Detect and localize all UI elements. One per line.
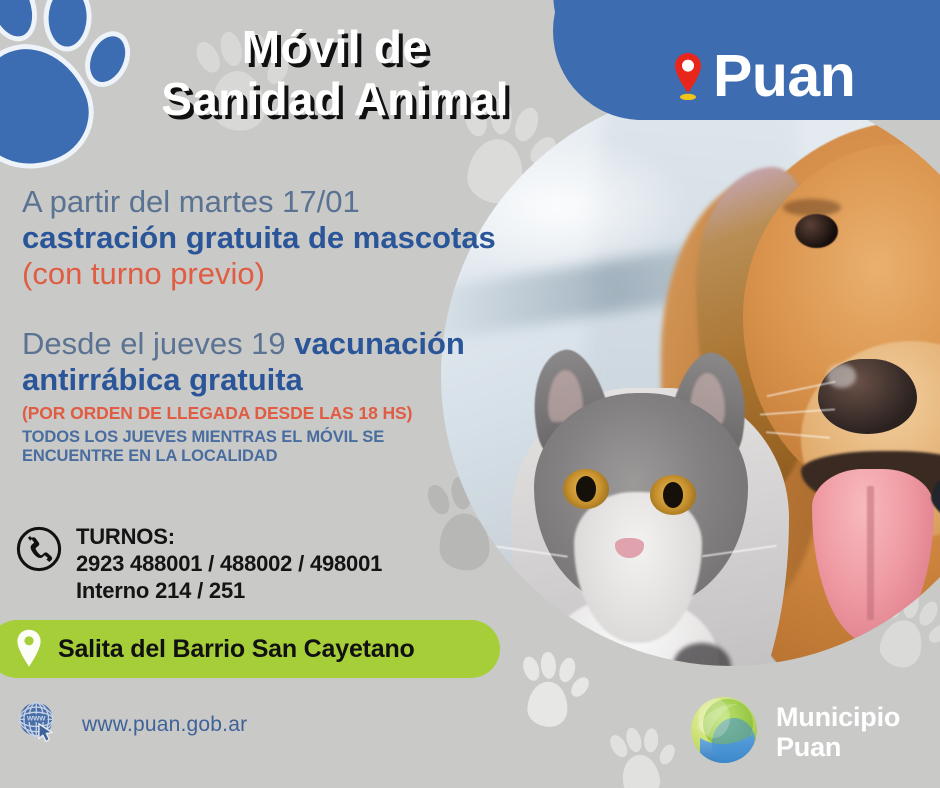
vaccination-order-note: (POR ORDEN DE LLEGADA DESDE LAS 18 HS) [22, 403, 522, 423]
address-bar: Salita del Barrio San Cayetano [0, 620, 500, 678]
municipality-line-2: Puan [776, 733, 900, 762]
vaccination-intro: Desde el jueves 19 [22, 326, 294, 361]
castration-info-block: A partir del martes 17/01 castración gra… [22, 184, 552, 292]
page-title: Móvil de Sanidad Animal [100, 22, 570, 125]
address-text: Salita del Barrio San Cayetano [58, 635, 415, 664]
title-line-2: Sanidad Animal [100, 74, 570, 126]
vaccination-highlight-2: antirrábica gratuita [22, 362, 522, 398]
globe-cursor-icon: www [16, 700, 60, 749]
website-url[interactable]: www.puan.gob.ar [82, 713, 247, 737]
location-badge: Puan [553, 0, 940, 120]
map-pin-icon [16, 629, 42, 667]
contact-block: TURNOS: 2923 488001 / 488002 / 498001 In… [16, 522, 382, 604]
municipality-logo-block: Municipio Puan [688, 694, 900, 771]
contact-extension: Interno 214 / 251 [76, 578, 382, 605]
municipio-sphere-logo [688, 694, 760, 771]
svg-text:www: www [26, 714, 46, 723]
castration-note: (con turno previo) [22, 256, 552, 292]
castration-highlight: castración gratuita de mascotas [22, 220, 552, 256]
vaccination-schedule-1: TODOS LOS JUEVES MIENTRAS EL MÓVIL SE [22, 428, 522, 446]
municipality-line-1: Municipio [776, 703, 900, 732]
phone-icon [16, 526, 62, 577]
contact-label: TURNOS: [76, 524, 382, 551]
website-block: www www.puan.gob.ar [16, 700, 247, 749]
vaccination-highlight-1: vacunación [294, 326, 465, 361]
vaccination-schedule-2: ENCUENTRE EN LA LOCALIDAD [22, 447, 522, 465]
map-pin-icon [671, 52, 705, 100]
vaccination-line-1: Desde el jueves 19 vacunación [22, 326, 522, 362]
paw-watermark-icon [606, 721, 682, 788]
poster-canvas: Puan Móvil de Sanidad Animal A partir de… [0, 0, 940, 788]
castration-intro: A partir del martes 17/01 [22, 184, 552, 220]
title-line-1: Móvil de [100, 22, 570, 74]
vaccination-info-block: Desde el jueves 19 vacunación antirrábic… [22, 326, 522, 465]
badge-label: Puan [713, 47, 855, 106]
contact-phones: 2923 488001 / 488002 / 498001 [76, 551, 382, 578]
